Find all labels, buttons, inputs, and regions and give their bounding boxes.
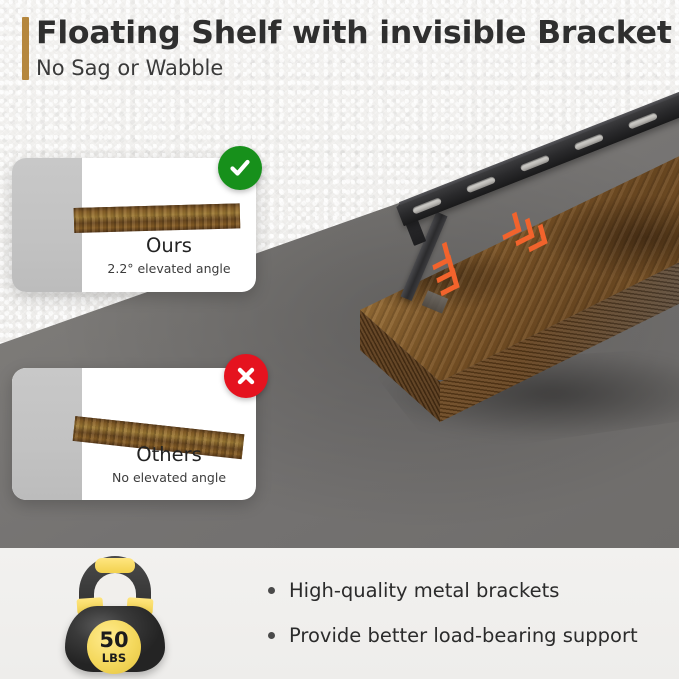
title-accent-bar: [22, 17, 29, 80]
rail-slot: [628, 112, 658, 129]
weight-value: 50: [99, 630, 128, 651]
page-title: Floating Shelf with invisible Bracket: [36, 15, 666, 51]
card-subtitle-ours: 2.2° elevated angle: [82, 261, 256, 276]
feature-text: Provide better load-bearing support: [289, 624, 638, 647]
weight-badge-kettlebell: 50 LBS: [55, 556, 175, 672]
wall-block-graphic: [12, 368, 82, 500]
comparison-card-ours: Ours 2.2° elevated angle: [12, 158, 256, 292]
product-marketing-image: Floating Shelf with invisible Bracket No…: [0, 0, 679, 679]
feature-list: High-quality metal brackets Provide bett…: [268, 568, 668, 658]
x-badge: [224, 354, 268, 398]
card-subtitle-others: No elevated angle: [82, 470, 256, 485]
weight-unit: LBS: [102, 653, 126, 665]
bracket-assembly: [392, 118, 679, 318]
rail-slot: [574, 133, 604, 150]
card-title-others: Others: [82, 443, 256, 466]
rail-slot: [466, 176, 496, 193]
shelf-plank-graphic: [74, 203, 241, 233]
kettlebell-grip: [95, 558, 135, 573]
comparison-card-others: Others No elevated angle: [12, 368, 256, 500]
weight-label: 50 LBS: [87, 620, 141, 674]
wall-block-graphic: [12, 158, 82, 292]
rail-slot: [520, 155, 550, 172]
list-item: Provide better load-bearing support: [268, 613, 668, 658]
feature-text: High-quality metal brackets: [289, 579, 559, 602]
card-title-ours: Ours: [82, 234, 256, 257]
rail-slot: [412, 197, 442, 214]
bullet-dot-icon: [268, 632, 275, 639]
page-subtitle: No Sag or Wabble: [36, 56, 636, 80]
check-badge: [218, 146, 262, 190]
header: Floating Shelf with invisible Bracket No…: [0, 0, 679, 95]
list-item: High-quality metal brackets: [268, 568, 668, 613]
bullet-dot-icon: [268, 587, 275, 594]
